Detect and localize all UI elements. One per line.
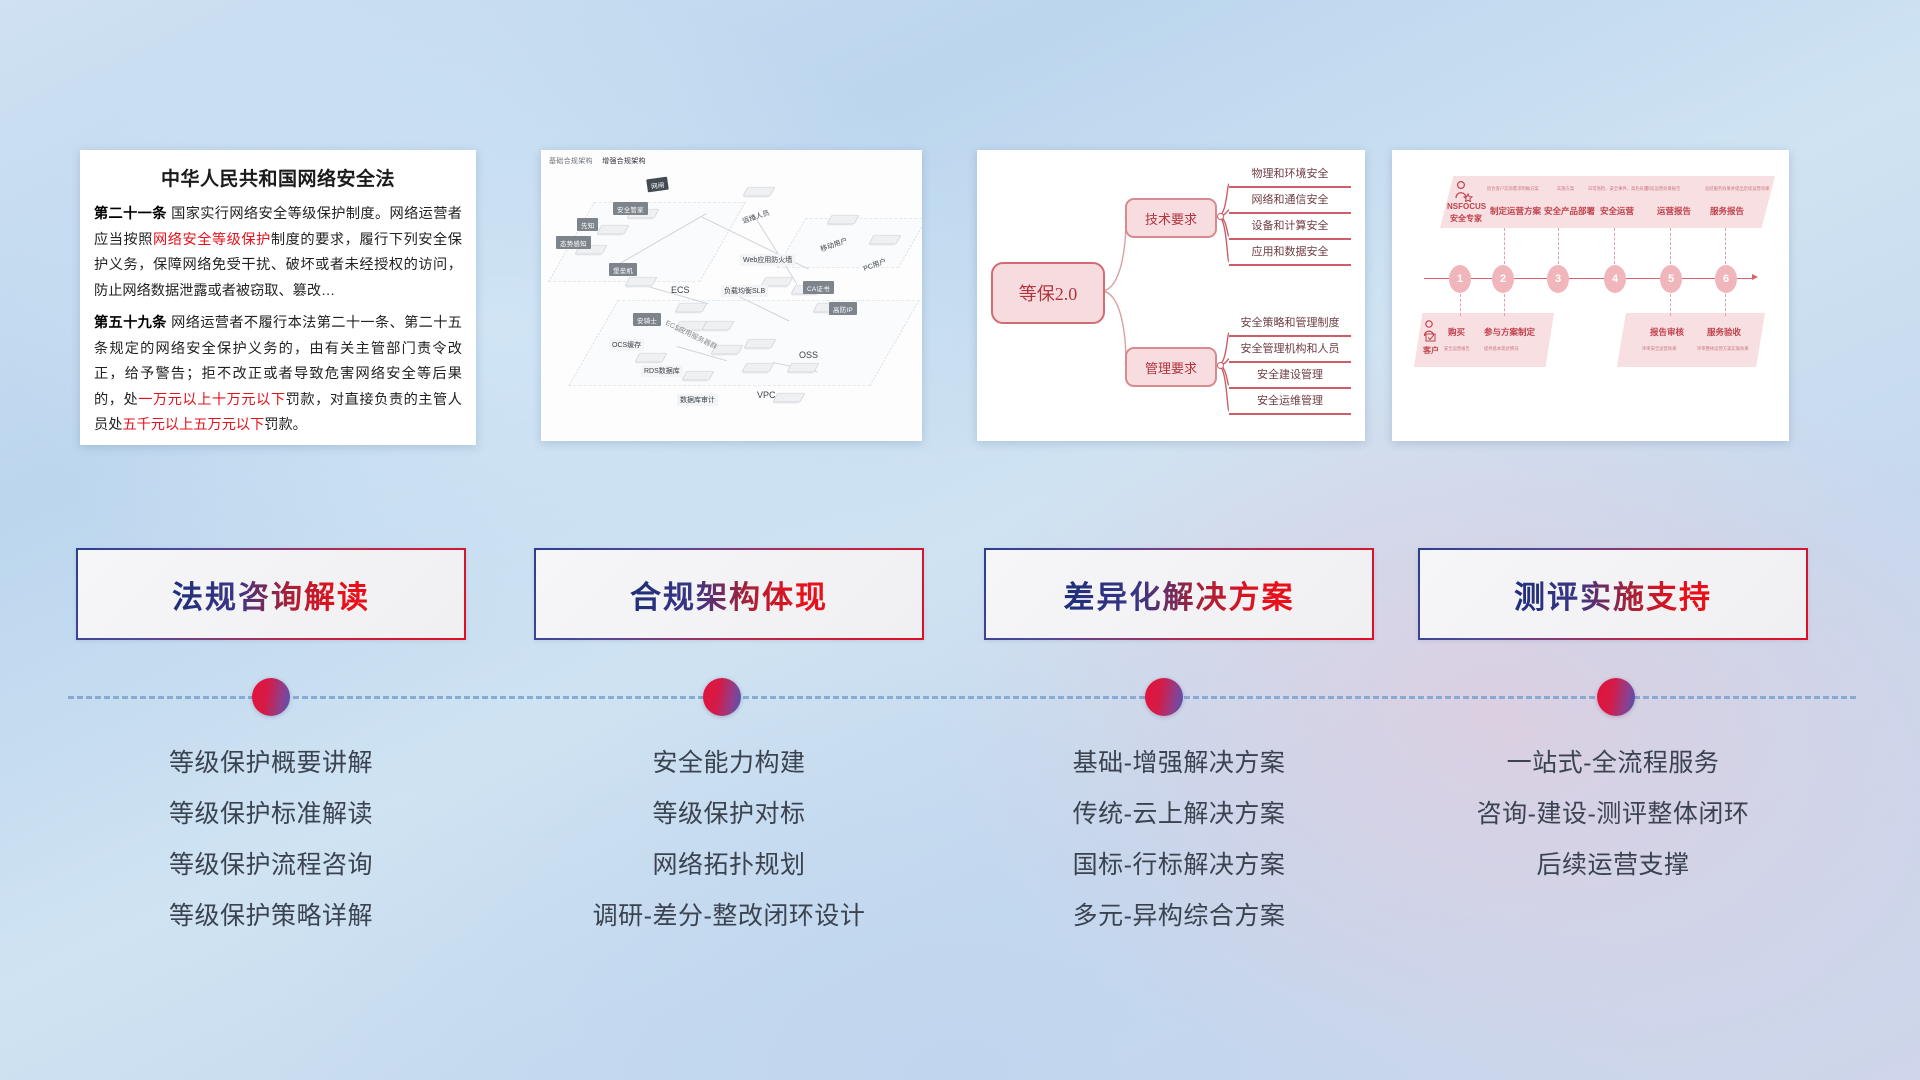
provider-band	[1440, 176, 1775, 228]
list-item: 网络拓扑规划	[534, 840, 924, 891]
server-icon	[675, 303, 708, 312]
timeline-step-4[interactable]: 4	[1604, 265, 1626, 293]
bottom-step-title: 参与方案制定	[1484, 326, 1535, 338]
law-seg: 罚款。	[264, 417, 307, 433]
list-item: 等级保护标准解读	[76, 789, 466, 840]
list-item: 调研-差分-整改闭环设计	[534, 891, 924, 942]
list-item: 安全能力构建	[534, 738, 924, 789]
top-step-title: 安全运营	[1600, 205, 1634, 217]
timeline-node-1[interactable]	[252, 678, 290, 716]
plane-user-zone	[777, 218, 922, 267]
mindmap-dengbao: 等保2.0 技术要求 物理和环境安全 网络和通信安全 设备和计算安全 应用和数据…	[977, 150, 1365, 441]
heading-button-regulation-consulting[interactable]: 法规咨询解读	[76, 548, 466, 640]
timeline-step-2[interactable]: 2	[1492, 265, 1514, 293]
heading-button-evaluation-support[interactable]: 测评实施支持	[1418, 548, 1808, 640]
top-step-note: 结合客户实际需求明确方案	[1487, 186, 1539, 192]
server-icon	[682, 371, 715, 380]
node-chip-anqishi: 安骑士	[633, 313, 661, 326]
card-mindmap[interactable]: 等保2.0 技术要求 物理和环境安全 网络和通信安全 设备和计算安全 应用和数据…	[977, 150, 1365, 441]
heading-label: 测评实施支持	[1514, 572, 1712, 617]
timeline-node-2[interactable]	[703, 678, 741, 716]
server-icon	[743, 187, 776, 196]
mindmap-collapse-dot[interactable]	[1217, 362, 1224, 369]
timeline-leader-line	[1725, 228, 1727, 264]
node-chip-gateway: 网闸	[646, 177, 669, 193]
server-icon	[742, 363, 775, 372]
list-item: 等级保护概要讲解	[76, 738, 466, 789]
timeline-leader-line	[1504, 228, 1506, 264]
tab-enhanced-architecture[interactable]: 增强合规架构	[602, 158, 646, 165]
node-chip-anti-ddos-ip: 高防IP	[829, 302, 857, 315]
server-icon	[625, 277, 658, 286]
law-title: 中华人民共和国网络安全法	[94, 164, 462, 191]
list-item: 咨询-建设-测评整体闭环	[1418, 789, 1808, 840]
mindmap-leaf: 安全运维管理	[1229, 387, 1351, 415]
bottom-step-title: 报告审核	[1650, 326, 1684, 338]
bottom-step-note: 提供基本现状情况	[1484, 346, 1518, 352]
node-chip-situational-awareness: 态势感知	[556, 236, 591, 249]
provider-label-line1: NSFOCUS	[1447, 202, 1486, 211]
node-label-load-balancer-slb: 负载均衡SLB	[721, 285, 768, 297]
customer-label: 客户	[1423, 345, 1439, 356]
node-chip-ca-certificate: CA证书	[803, 281, 834, 294]
list-item: 等级保护策略详解	[76, 891, 466, 942]
bottom-step-note: 评审安全运营效果	[1642, 346, 1676, 352]
node-chip-security-butler: 安全管家	[613, 202, 648, 215]
server-icon	[787, 363, 820, 372]
mindmap-leaf: 物理和环境安全	[1229, 160, 1351, 188]
mindmap-leaf: 安全策略和管理制度	[1229, 309, 1351, 337]
architecture-diagram: 基础合规架构 增强合规架构	[541, 150, 922, 441]
customer-person-icon	[1422, 320, 1440, 342]
list-item: 后续运营支撑	[1418, 840, 1808, 891]
server-icon	[744, 339, 777, 348]
timeline-leader-line	[1460, 294, 1462, 316]
law-seg-highlight: 一万元以上十万元以下	[138, 392, 285, 408]
top-step-note: 日常巡检、安全事件、高危处置	[1588, 186, 1648, 192]
top-step-title: 服务报告	[1710, 205, 1744, 217]
heading-button-compliance-architecture[interactable]: 合规架构体现	[534, 548, 924, 640]
node-label-rds-database: RDS数据库	[641, 365, 683, 377]
timeline-step-3[interactable]: 3	[1547, 265, 1569, 293]
server-icon	[773, 393, 806, 402]
card-law-document[interactable]: 中华人民共和国网络安全法 第二十一条 国家实行网络安全等级保护制度。网络运营者应…	[80, 150, 476, 445]
node-label-database-audit: 数据库审计	[677, 394, 718, 406]
law-paragraph-1: 第二十一条 国家实行网络安全等级保护制度。网络运营者应当按照网络安全等级保护制度…	[94, 202, 462, 304]
detail-lists: 等级保护概要讲解 等级保护标准解读 等级保护流程咨询 等级保护策略详解 安全能力…	[0, 738, 1920, 978]
law-article-label-1: 第二十一条	[94, 206, 167, 222]
list-item: 国标-行标解决方案	[984, 840, 1374, 891]
cards-row: 中华人民共和国网络安全法 第二十一条 国家实行网络安全等级保护制度。网络运营者应…	[0, 150, 1920, 450]
timeline-axis	[1424, 278, 1754, 279]
list-item: 一站式-全流程服务	[1418, 738, 1808, 789]
top-step-title: 运营报告	[1657, 205, 1691, 217]
top-step-title: 制定运营方案	[1490, 205, 1541, 217]
heading-row: 法规咨询解读 合规架构体现 差异化解决方案 测评实施支持	[0, 548, 1920, 644]
node-chip-bastion-host: 堡垒机	[609, 263, 637, 276]
card-architecture-diagram[interactable]: 基础合规架构 增强合规架构	[541, 150, 922, 441]
heading-label: 合规架构体现	[630, 572, 828, 617]
timeline-arrow-icon	[1752, 274, 1758, 280]
timeline-node-3[interactable]	[1145, 678, 1183, 716]
top-step-note: 阶段运营效果报告	[1646, 186, 1680, 192]
timeline-leader-line	[1504, 294, 1506, 316]
node-chip-xianzhi: 先知	[577, 218, 598, 231]
node-label-ocs-cache: OCS缓存	[609, 339, 644, 351]
server-icon	[597, 225, 630, 234]
timeline-leader-line	[1670, 294, 1672, 316]
mindmap-leaf: 设备和计算安全	[1229, 212, 1351, 240]
timeline-step-5[interactable]: 5	[1660, 265, 1682, 293]
timeline-leader-line	[1614, 228, 1616, 264]
heading-label: 法规咨询解读	[172, 572, 370, 617]
timeline-leader-line	[1558, 228, 1560, 264]
heading-button-differentiated-solution[interactable]: 差异化解决方案	[984, 548, 1374, 640]
timeline-step-6[interactable]: 6	[1715, 265, 1737, 293]
detail-list-differentiated-solution: 基础-增强解决方案 传统-云上解决方案 国标-行标解决方案 多元-异构综合方案	[984, 738, 1374, 942]
list-item: 等级保护对标	[534, 789, 924, 840]
server-icon	[635, 353, 668, 362]
law-article-label-2: 第五十九条	[94, 315, 167, 331]
list-item: 多元-异构综合方案	[984, 891, 1374, 942]
bottom-step-note: 安全运营报告	[1444, 346, 1470, 352]
service-timeline: NSFOCUS 安全专家 结合客户实际需求明确方案 制定运营方案 实施方案 安全…	[1392, 150, 1789, 441]
mindmap-leaf: 应用和数据安全	[1229, 238, 1351, 266]
detail-list-compliance-architecture: 安全能力构建 等级保护对标 网络拓扑规划 调研-差分-整改闭环设计	[534, 738, 924, 942]
list-item: 传统-云上解决方案	[984, 789, 1374, 840]
timeline-connector	[0, 672, 1920, 724]
bottom-step-note: 评审整体运营方案实施效果	[1697, 346, 1749, 352]
top-step-title: 安全产品部署	[1544, 205, 1595, 217]
bottom-step-title: 服务验收	[1707, 326, 1741, 338]
card-service-timeline[interactable]: NSFOCUS 安全专家 结合客户实际需求明确方案 制定运营方案 实施方案 安全…	[1392, 150, 1789, 441]
server-icon	[869, 235, 902, 244]
law-seg-highlight: 五千元以上五万元以下	[122, 417, 264, 433]
top-step-note: 总结服务效果并提出后续运营效果	[1705, 186, 1769, 192]
node-label-web-application-firewall: Web应用防火墙	[740, 254, 795, 266]
mindmap-root: 等保2.0	[991, 262, 1105, 324]
timeline-step-1[interactable]: 1	[1449, 265, 1471, 293]
top-step-note: 实施方案	[1557, 186, 1574, 192]
mindmap-collapse-dot[interactable]	[1217, 213, 1224, 220]
tab-basic-architecture[interactable]: 基础合规架构	[549, 158, 593, 165]
timeline-node-4[interactable]	[1597, 678, 1635, 716]
node-label-ops-staff: 运维人员	[741, 208, 771, 226]
timeline-leader-line	[1670, 228, 1672, 264]
heading-label: 差异化解决方案	[1064, 572, 1295, 617]
server-icon	[827, 215, 860, 224]
mindmap-leaf: 安全建设管理	[1229, 361, 1351, 389]
slide-canvas: 中华人民共和国网络安全法 第二十一条 国家实行网络安全等级保护制度。网络运营者应…	[0, 0, 1920, 1080]
mindmap-leaf: 安全管理机构和人员	[1229, 335, 1351, 363]
bottom-step-title: 购买	[1448, 326, 1465, 338]
architecture-tabs: 基础合规架构 增强合规架构	[549, 156, 653, 166]
customer-band-right	[1617, 313, 1765, 367]
timeline-dashed-line	[68, 696, 1856, 699]
expert-person-icon	[1452, 180, 1474, 202]
mindmap-leaf: 网络和通信安全	[1229, 186, 1351, 214]
law-document: 中华人民共和国网络安全法 第二十一条 国家实行网络安全等级保护制度。网络运营者应…	[80, 150, 476, 445]
mindmap-branch-management: 管理要求	[1125, 347, 1217, 387]
node-label-vpc: VPC	[757, 390, 776, 400]
list-item: 等级保护流程咨询	[76, 840, 466, 891]
detail-list-evaluation-support: 一站式-全流程服务 咨询-建设-测评整体闭环 后续运营支撑	[1418, 738, 1808, 891]
law-paragraph-2: 第五十九条 网络运营者不履行本法第二十一条、第二十五条规定的网络安全保护义务的，…	[94, 311, 462, 439]
list-item: 基础-增强解决方案	[984, 738, 1374, 789]
law-seg-highlight: 网络安全等级保护	[153, 232, 271, 248]
timeline-leader-line	[1725, 294, 1727, 316]
provider-label-line2: 安全专家	[1450, 213, 1482, 224]
node-label-oss: OSS	[799, 350, 818, 360]
server-icon	[702, 321, 735, 330]
detail-list-regulation-consulting: 等级保护概要讲解 等级保护标准解读 等级保护流程咨询 等级保护策略详解	[76, 738, 466, 942]
node-label-ecs: ECS	[671, 285, 690, 295]
mindmap-branch-technical: 技术要求	[1125, 198, 1217, 238]
